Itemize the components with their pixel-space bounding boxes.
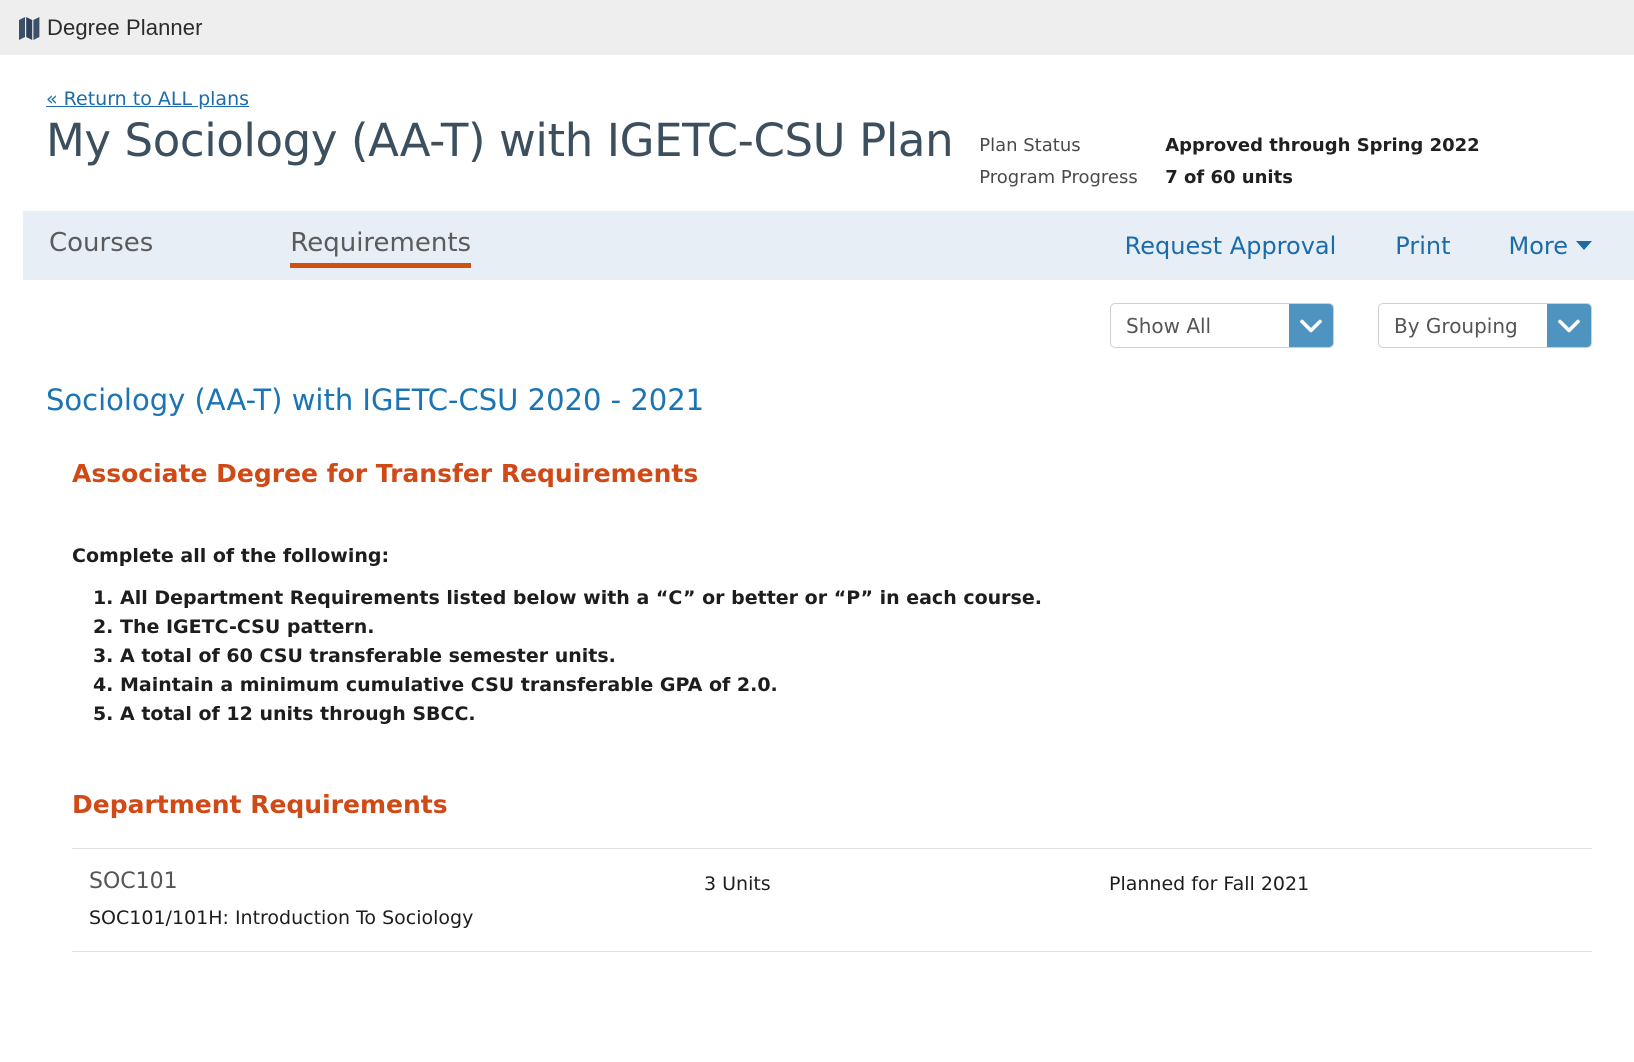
app-header-bar: Degree Planner xyxy=(0,0,1634,55)
chevron-down-icon xyxy=(1576,241,1592,250)
grouping-filter-select[interactable]: By Grouping xyxy=(1378,303,1592,348)
course-units: 3 Units xyxy=(704,869,1109,895)
more-menu-button[interactable]: More xyxy=(1509,232,1593,260)
tab-courses[interactable]: Courses xyxy=(49,228,153,264)
program-progress-label: Program Progress xyxy=(979,167,1165,188)
tab-requirements-label: Requirements xyxy=(290,228,471,258)
plan-header: My Sociology (AA-T) with IGETC-CSU Plan … xyxy=(0,110,1634,199)
plan-status-row: Plan Status Approved through Spring 2022 xyxy=(979,135,1594,156)
page-body: « Return to ALL plans My Sociology (AA-T… xyxy=(0,55,1634,952)
tab-courses-label: Courses xyxy=(49,228,153,258)
chevron-down-icon[interactable] xyxy=(1289,304,1333,347)
plan-status-value: Approved through Spring 2022 xyxy=(1165,135,1479,156)
grouping-filter-value: By Grouping xyxy=(1379,304,1547,347)
print-button[interactable]: Print xyxy=(1395,232,1450,260)
list-item: All Department Requirements listed below… xyxy=(120,584,1592,613)
request-approval-button[interactable]: Request Approval xyxy=(1125,232,1337,260)
chevron-down-icon[interactable] xyxy=(1547,304,1591,347)
more-menu-label: More xyxy=(1509,232,1569,260)
table-row[interactable]: SOC101 SOC101/101H: Introduction To Soci… xyxy=(72,849,1592,951)
tab-requirements[interactable]: Requirements xyxy=(290,228,471,264)
list-item: A total of 60 CSU transferable semester … xyxy=(120,642,1592,671)
return-link-label: Return to ALL plans xyxy=(64,88,249,110)
breadcrumb: « Return to ALL plans xyxy=(0,55,1634,110)
program-progress-value: 7 of 60 units xyxy=(1165,167,1293,188)
list-item: Maintain a minimum cumulative CSU transf… xyxy=(120,671,1592,700)
double-chevron-left-icon: « xyxy=(46,88,58,110)
program-progress-row: Program Progress 7 of 60 units xyxy=(979,167,1594,188)
return-to-all-plans-link[interactable]: « Return to ALL plans xyxy=(46,88,249,110)
requirements-content: Sociology (AA-T) with IGETC-CSU 2020 - 2… xyxy=(0,383,1634,952)
page-title: My Sociology (AA-T) with IGETC-CSU Plan xyxy=(46,116,953,166)
show-filter-value: Show All xyxy=(1111,304,1289,347)
list-item: A total of 12 units through SBCC. xyxy=(120,700,1592,729)
tab-list: Courses Requirements xyxy=(23,228,471,264)
tab-bar: Courses Requirements Request Approval Pr… xyxy=(23,211,1634,280)
plan-status-label: Plan Status xyxy=(979,135,1165,156)
course-status: Planned for Fall 2021 xyxy=(1109,869,1309,895)
tab-actions: Request Approval Print More xyxy=(1125,232,1634,260)
course-name: SOC101/101H: Introduction To Sociology xyxy=(89,907,704,929)
course-code: SOC101 xyxy=(89,869,704,895)
department-course-table: SOC101 SOC101/101H: Introduction To Soci… xyxy=(72,848,1592,951)
adt-intro-text: Complete all of the following: xyxy=(72,545,1592,567)
department-section-heading: Department Requirements xyxy=(72,790,1592,819)
list-item: The IGETC-CSU pattern. xyxy=(120,613,1592,642)
adt-requirement-list: All Department Requirements listed below… xyxy=(72,584,1592,728)
show-filter-select[interactable]: Show All xyxy=(1110,303,1334,348)
adt-section-heading: Associate Degree for Transfer Requiremen… xyxy=(72,459,1592,488)
filter-toolbar: Show All By Grouping xyxy=(0,280,1634,348)
map-icon xyxy=(17,15,43,41)
app-title: Degree Planner xyxy=(47,15,203,41)
course-info-cell: SOC101 SOC101/101H: Introduction To Soci… xyxy=(72,869,704,928)
program-heading[interactable]: Sociology (AA-T) with IGETC-CSU 2020 - 2… xyxy=(46,383,1592,417)
adt-requirements-section: Associate Degree for Transfer Requiremen… xyxy=(72,459,1592,952)
plan-status-block: Plan Status Approved through Spring 2022… xyxy=(979,135,1594,199)
